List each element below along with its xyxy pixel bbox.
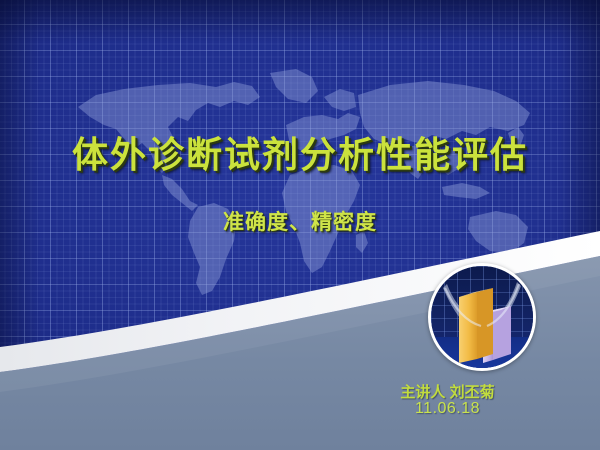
presentation-title-slide: 体外诊断试剂分析性能评估 准确度、精密度 主讲人 刘丕菊 11.06.18 <box>0 0 600 450</box>
page-title: 体外诊断试剂分析性能评估 <box>0 126 600 178</box>
bar-chart-photo <box>428 263 536 371</box>
presentation-date: 11.06.18 <box>350 400 545 418</box>
page-subtitle: 准确度、精密度 <box>0 206 600 236</box>
presenter-name: 主讲人 刘丕菊 <box>350 381 545 402</box>
